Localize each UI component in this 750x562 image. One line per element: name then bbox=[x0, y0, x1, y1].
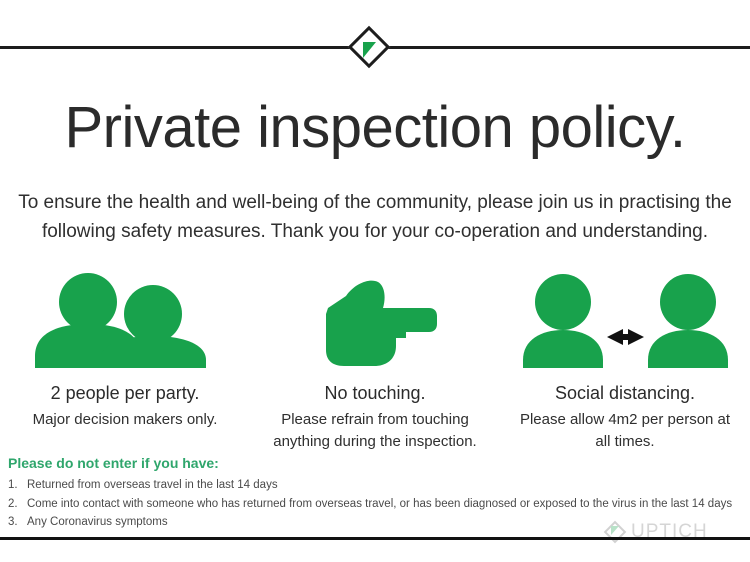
notice-heading: Please do not enter if you have: bbox=[8, 455, 748, 471]
list-item-text: Any Coronavirus symptoms bbox=[27, 513, 168, 532]
list-item-text: Returned from overseas travel in the las… bbox=[27, 476, 278, 495]
feature-subtitle: Major decision makers only. bbox=[33, 409, 218, 431]
feature-item: 2 people per party. Major decision maker… bbox=[0, 268, 250, 431]
feature-subtitle: Please allow 4m2 per person at all times… bbox=[518, 409, 733, 453]
list-item-text: Come into contact with someone who has r… bbox=[27, 495, 732, 514]
green-triangle-icon bbox=[363, 42, 376, 58]
feature-title: 2 people per party. bbox=[51, 382, 200, 405]
list-item: 2. Come into contact with someone who ha… bbox=[8, 495, 748, 514]
feature-title: No touching. bbox=[324, 382, 425, 405]
bottom-horizontal-rule bbox=[0, 537, 750, 540]
top-divider bbox=[0, 0, 750, 90]
feature-row: 2 people per party. Major decision maker… bbox=[0, 268, 750, 453]
social-distancing-icon bbox=[523, 268, 728, 368]
feature-item: No touching. Please refrain from touchin… bbox=[250, 268, 500, 453]
list-item: 1. Returned from overseas travel in the … bbox=[8, 476, 748, 495]
intro-paragraph: To ensure the health and well-being of t… bbox=[15, 188, 735, 247]
diamond-logo bbox=[348, 17, 390, 77]
list-item-number: 3. bbox=[8, 513, 27, 532]
feature-subtitle: Please refrain from touching anything du… bbox=[268, 409, 483, 453]
feature-item: Social distancing. Please allow 4m2 per … bbox=[500, 268, 750, 453]
page-title: Private inspection policy. bbox=[0, 98, 750, 159]
list-item-number: 1. bbox=[8, 476, 27, 495]
list-item-number: 2. bbox=[8, 495, 27, 514]
two-people-icon bbox=[33, 268, 218, 368]
feature-title: Social distancing. bbox=[555, 382, 695, 405]
pointing-hand-icon bbox=[310, 268, 440, 368]
footer-watermark-logo: UPTICH bbox=[604, 519, 744, 545]
watermark-green-triangle-icon bbox=[611, 526, 619, 535]
